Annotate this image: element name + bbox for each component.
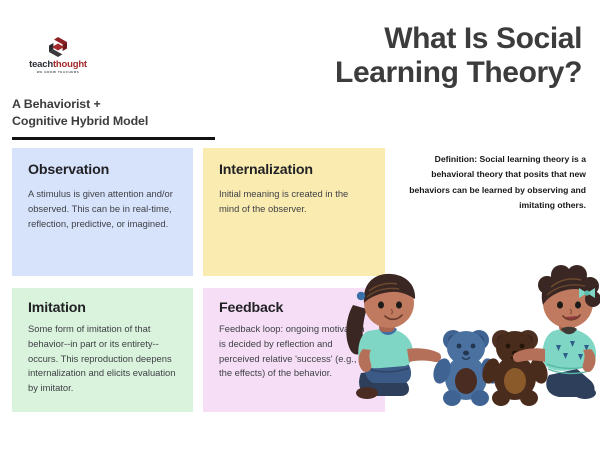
page-subtitle-line-1: A Behaviorist + (12, 96, 262, 113)
page-title: What Is Social Learning Theory? (252, 22, 582, 90)
card-heading-imitation: Imitation (28, 300, 177, 316)
brand-logo: teachthought WE GROW TEACHERS (22, 36, 94, 74)
card-heading-observation: Observation (28, 162, 177, 178)
card-body-observation: A stimulus is given attention and/or obs… (28, 187, 177, 231)
concept-card-internalization: Internalization Initial meaning is creat… (203, 148, 385, 276)
logo-wordmark: teachthought (22, 60, 94, 70)
concept-card-observation: Observation A stimulus is given attentio… (12, 148, 193, 276)
title-divider-rule (12, 137, 215, 140)
teachthought-logo-icon (45, 36, 71, 58)
two-children-with-teddy-bears-illustration (335, 265, 600, 420)
page-title-line-2: Learning Theory? (252, 56, 582, 90)
card-body-internalization: Initial meaning is created in the mind o… (219, 187, 369, 217)
logo-word-teach: teach (29, 59, 53, 70)
logo-tagline: WE GROW TEACHERS (22, 71, 94, 74)
brown-teddy-bear (479, 330, 550, 406)
page-title-line-1: What Is Social (252, 22, 582, 56)
girl-with-ponytail (346, 274, 441, 399)
infographic-canvas: teachthought WE GROW TEACHERS What Is So… (0, 0, 600, 450)
page-subtitle: A Behaviorist + Cognitive Hybrid Model (12, 96, 262, 129)
definition-text: Definition: Social learning theory is a … (400, 152, 586, 213)
logo-word-thought: thought (53, 59, 87, 70)
concept-card-imitation: Imitation Some form of imitation of that… (12, 288, 193, 412)
page-subtitle-line-2: Cognitive Hybrid Model (12, 113, 262, 130)
card-heading-internalization: Internalization (219, 162, 369, 178)
card-body-imitation: Some form of imitation of that behavior-… (28, 322, 177, 396)
